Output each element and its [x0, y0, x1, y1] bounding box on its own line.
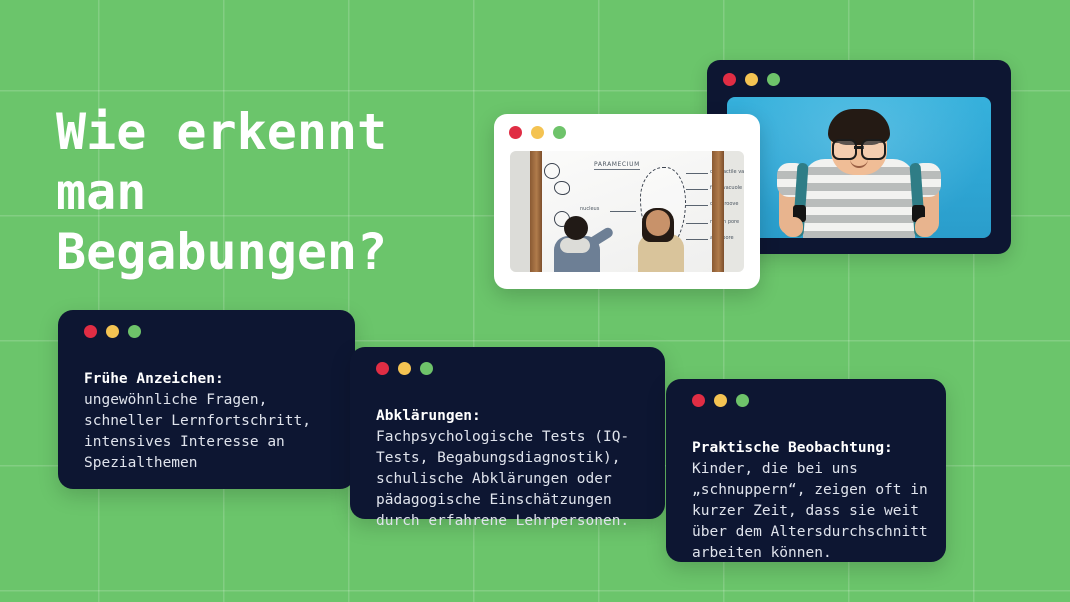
minimize-dot-icon[interactable] [106, 325, 119, 338]
maximize-dot-icon[interactable] [736, 394, 749, 407]
student-boy [554, 216, 600, 272]
close-dot-icon[interactable] [84, 325, 97, 338]
contractile-vacuole-shape [544, 163, 560, 179]
whiteboard-frame-right [712, 151, 724, 272]
glasses-lens-right [861, 139, 886, 160]
slide-canvas: Wie erkennt man Begabungen? [0, 0, 1070, 602]
classroom-wall-left [510, 151, 530, 272]
page-title: Wie erkennt man Begabungen? [56, 102, 476, 282]
media-window-whiteboard[interactable]: PARAMECIUM contractile vacuole food vacu… [494, 114, 760, 289]
boy-hand-right [915, 217, 935, 237]
card-window-controls [84, 325, 141, 338]
close-dot-icon[interactable] [376, 362, 389, 375]
minimize-dot-icon[interactable] [714, 394, 727, 407]
annotation-label: nucleus [580, 206, 599, 212]
boy-hand-left [783, 217, 803, 237]
info-card-assessments[interactable]: Abklärungen:Fachpsychologische Tests (IQ… [350, 347, 665, 519]
card-label: Frühe Anzeichen: [84, 369, 337, 390]
boy-glasses-icon [832, 139, 886, 156]
card-window-controls [692, 394, 749, 407]
minimize-dot-icon[interactable] [531, 126, 544, 139]
leader-line [686, 205, 708, 206]
info-card-practical-observation[interactable]: Praktische Beobachtung:Kinder, die bei u… [666, 379, 946, 562]
close-dot-icon[interactable] [509, 126, 522, 139]
maximize-dot-icon[interactable] [420, 362, 433, 375]
minimize-dot-icon[interactable] [745, 73, 758, 86]
leader-line [686, 173, 708, 174]
card-label: Abklärungen: [376, 406, 647, 427]
card-body: Frühe Anzeichen:ungewöhnliche Fragen, sc… [84, 348, 337, 474]
card-window-controls [376, 362, 433, 375]
whiteboard-frame-left [530, 151, 542, 272]
student-girl-head [646, 210, 670, 236]
maximize-dot-icon[interactable] [553, 126, 566, 139]
card-body: Abklärungen:Fachpsychologische Tests (IQ… [376, 385, 647, 532]
card-body: Praktische Beobachtung:Kinder, die bei u… [692, 417, 928, 564]
leader-line [686, 189, 708, 190]
window-controls-whiteboard [509, 126, 566, 139]
card-label: Praktische Beobachtung: [692, 438, 928, 459]
student-boy-hood [560, 238, 590, 253]
glasses-lens-left [832, 139, 857, 160]
card-text: Kinder, die bei uns „schnuppern“, zeigen… [692, 461, 928, 561]
window-controls-boy [723, 73, 780, 86]
minimize-dot-icon[interactable] [398, 362, 411, 375]
card-text: ungewöhnliche Fragen, schneller Lernfort… [84, 392, 311, 471]
photo-boy-with-backpack [727, 97, 991, 238]
close-dot-icon[interactable] [723, 73, 736, 86]
nucleus-shape [554, 181, 570, 195]
leader-line [686, 223, 708, 224]
student-boy-head [564, 216, 588, 240]
leader-line [610, 211, 636, 212]
leader-line [686, 239, 708, 240]
maximize-dot-icon[interactable] [767, 73, 780, 86]
maximize-dot-icon[interactable] [128, 325, 141, 338]
whiteboard-heading: PARAMECIUM [594, 161, 640, 170]
boy-hair [828, 109, 890, 143]
close-dot-icon[interactable] [692, 394, 705, 407]
info-card-early-signs[interactable]: Frühe Anzeichen:ungewöhnliche Fragen, sc… [58, 310, 355, 489]
student-girl [638, 210, 684, 272]
photo-students-at-whiteboard: PARAMECIUM contractile vacuole food vacu… [510, 151, 744, 272]
card-text: Fachpsychologische Tests (IQ-Tests, Bega… [376, 429, 629, 529]
